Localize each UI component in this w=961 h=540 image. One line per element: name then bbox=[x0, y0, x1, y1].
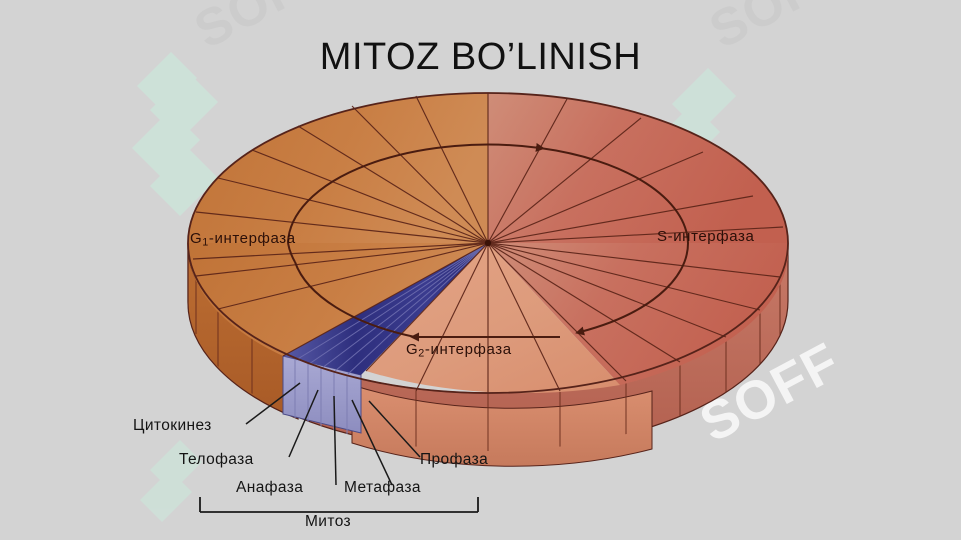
page-title: MITOZ BO’LINISH bbox=[0, 36, 961, 79]
label-g1-subscript: 1 bbox=[202, 237, 209, 249]
label-g2-prefix: G bbox=[406, 341, 418, 358]
label-telophase: Телофаза bbox=[179, 451, 254, 469]
label-anaphase: Анафаза bbox=[236, 479, 303, 497]
pie-center-point bbox=[485, 240, 491, 246]
sector-g1 bbox=[188, 93, 488, 243]
label-g2-subscript: 2 bbox=[418, 348, 425, 360]
label-cytokinesis: Цитокинез bbox=[133, 417, 212, 435]
label-s-interphase: S-интерфаза bbox=[657, 228, 754, 245]
label-g1-prefix: G bbox=[190, 230, 202, 247]
label-s-prefix: S bbox=[657, 228, 668, 245]
label-metaphase: Метафаза bbox=[344, 479, 421, 497]
label-prophase: Профаза bbox=[420, 451, 488, 469]
label-g2-interphase: G2-интерфаза bbox=[406, 341, 512, 360]
label-g1-interphase: G1-интерфаза bbox=[190, 230, 296, 249]
mitosis-bracket bbox=[200, 497, 478, 512]
label-mitosis: Митоз bbox=[305, 513, 351, 531]
sector-s-upper bbox=[488, 93, 788, 243]
label-s-suffix: -интерфаза bbox=[668, 228, 755, 245]
slide-canvas: SOFF SOFF SOFF bbox=[0, 0, 961, 540]
label-g1-suffix: -интерфаза bbox=[209, 230, 296, 247]
label-g2-suffix: -интерфаза bbox=[425, 341, 512, 358]
